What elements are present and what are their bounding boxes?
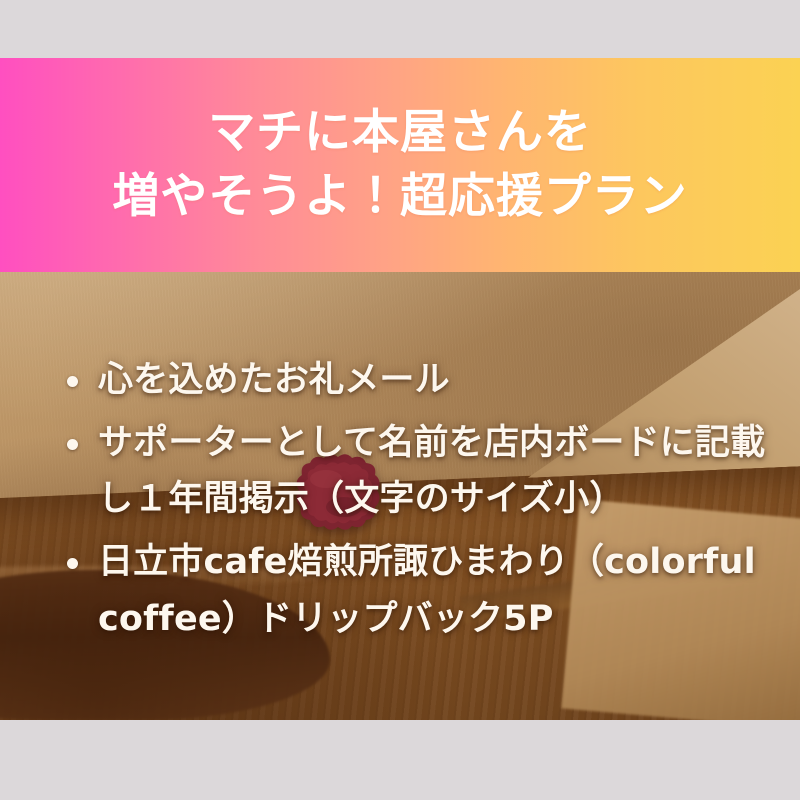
title-line-1: マチに本屋さんを bbox=[208, 101, 592, 165]
title-band: マチに本屋さんを 増やそうよ！超応援プラン bbox=[0, 58, 800, 272]
list-item: サポーターとして名前を店内ボードに記載し１年間掲示（文字のサイズ小） bbox=[56, 415, 796, 528]
promo-slide: マチに本屋さんを 増やそうよ！超応援プラン 心を込めたお礼メール サポーターとし… bbox=[0, 0, 800, 800]
title-line-2: 増やそうよ！超応援プラン bbox=[112, 165, 687, 229]
letterbox-top bbox=[0, 0, 800, 58]
letterbox-bottom bbox=[0, 720, 800, 800]
benefits-list: 心を込めたお礼メール サポーターとして名前を店内ボードに記載し１年間掲示（文字の… bbox=[56, 352, 796, 653]
list-item: 日立市cafe焙煎所諏ひまわり（colorful coffee）ドリップバック5… bbox=[56, 534, 796, 647]
list-item: 心を込めたお礼メール bbox=[56, 352, 796, 409]
